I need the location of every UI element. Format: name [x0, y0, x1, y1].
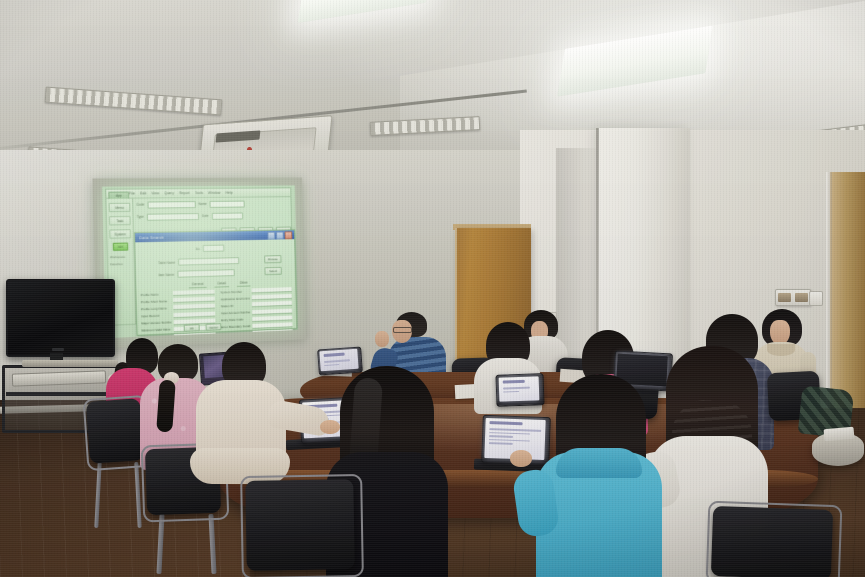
sidebar-item-system[interactable]: System: [109, 229, 131, 239]
dialog-window-controls[interactable]: [267, 231, 292, 239]
field-label: Minimum Valid Value: [141, 328, 171, 333]
dialog-field[interactable]: Status ID: [221, 301, 292, 309]
menu-item-report[interactable]: Report: [179, 191, 190, 195]
screen-text-line: [503, 387, 530, 389]
field-input[interactable]: [173, 290, 215, 296]
filter-input-name[interactable]: [210, 200, 245, 207]
dialog-title-bar[interactable]: Data Search: [135, 230, 294, 242]
dialog-table-name-input[interactable]: [178, 257, 239, 266]
student-laptop-screen[interactable]: [499, 376, 540, 401]
sidebar-item-menu[interactable]: Menu: [109, 203, 131, 212]
dialog-select-button[interactable]: Select: [264, 267, 281, 275]
wall-switch-plate-secondary[interactable]: [809, 291, 823, 306]
sidebar-item-task[interactable]: Task: [109, 216, 131, 226]
filter-label-type: Type: [137, 215, 144, 219]
sidebar-go-button[interactable]: GO: [113, 242, 129, 250]
close-icon[interactable]: [285, 231, 293, 239]
filter-label-name: Name: [198, 202, 207, 206]
projection-screen[interactable]: File Edit View Query Report Tools Window…: [102, 185, 298, 338]
field-label: Status ID: [221, 303, 250, 308]
dialog-cancel-button[interactable]: Cancel: [206, 323, 222, 331]
dialog-search-row[interactable]: Table Name: [158, 257, 239, 266]
minimize-icon[interactable]: [267, 231, 275, 239]
field-input[interactable]: [252, 294, 292, 300]
field-label: Application Environment: [221, 296, 250, 301]
dialog-field-grid[interactable]: Profile Name System Number Profile Short…: [141, 287, 293, 338]
menu-item-window[interactable]: Window: [208, 191, 221, 195]
person-cyan-hood: [556, 448, 642, 478]
dialog-top-field[interactable]: No.: [196, 245, 225, 253]
field-label: Major Version Number: [141, 320, 171, 325]
field-input[interactable]: [173, 311, 215, 318]
dialog-field[interactable]: Profile Short Name: [141, 297, 215, 305]
tv-stand-base: [22, 360, 118, 367]
screen-text-line: [489, 435, 513, 437]
dialog-tab-bar[interactable]: General Detail Other: [189, 281, 251, 289]
screen-title-bar: [503, 380, 525, 384]
dialog-browse-button[interactable]: Browse: [264, 255, 281, 263]
person-instructor-hand: [375, 331, 389, 347]
tab-detail[interactable]: Detail: [214, 281, 228, 287]
screen-text-line: [489, 439, 530, 442]
chair-frame: [706, 501, 843, 577]
field-label: Input Account Number: [221, 310, 250, 315]
screen-title-bar: [490, 421, 523, 425]
field-label: Entry Date Code: [221, 317, 250, 322]
screen-text-line: [503, 390, 519, 392]
person-standing-cream-neckline: [767, 344, 795, 356]
menu-item-view[interactable]: View: [151, 191, 159, 195]
field-input[interactable]: [173, 304, 215, 311]
field-label: Error Boundary Condition: [221, 324, 250, 329]
training-room-photo: File Edit View Query Report Tools Window…: [0, 0, 865, 577]
person-cream-peplum-hand: [320, 420, 340, 434]
projected-application-window[interactable]: File Edit View Query Report Tools Window…: [105, 187, 294, 325]
tab-other[interactable]: Other: [237, 281, 251, 287]
sidebar-sub-workspace[interactable]: Workspace: [110, 255, 132, 260]
field-label: Profile Long Name: [141, 306, 171, 311]
av-cart-shelf: [6, 392, 121, 396]
dialog-field[interactable]: System Number: [220, 287, 291, 294]
chair-frame: [240, 474, 364, 577]
field-label: Profile Name: [141, 292, 171, 297]
dialog-item-name-input[interactable]: [177, 269, 234, 278]
field-input[interactable]: [252, 301, 292, 307]
filter-row[interactable]: Type Date: [132, 209, 290, 223]
light-switch-key[interactable]: [778, 293, 791, 302]
menu-item-query[interactable]: Query: [164, 191, 174, 195]
wall-light-switch-panel[interactable]: [775, 289, 811, 306]
screen-title-bar: [324, 353, 345, 357]
dialog-ok-button[interactable]: OK: [184, 324, 200, 332]
menu-item-help[interactable]: Help: [225, 191, 232, 195]
field-label: System Number: [220, 289, 249, 294]
dialog-field[interactable]: Profile Name: [141, 290, 215, 297]
filter-input-date[interactable]: [211, 212, 242, 219]
field-input[interactable]: [251, 287, 291, 293]
projected-modal-dialog[interactable]: Data Search No. Table Name Browse: [134, 229, 297, 335]
field-input[interactable]: [252, 308, 292, 314]
dialog-title-text: Data Search: [137, 235, 164, 241]
dialog-field[interactable]: Application Environment: [221, 294, 292, 301]
dialog-top-field-label: No.: [196, 247, 201, 251]
screen-text-line: [489, 428, 541, 431]
student-laptop-screen[interactable]: [319, 349, 358, 372]
screen-text-line: [489, 442, 513, 444]
tab-general[interactable]: General: [189, 282, 207, 289]
dialog-top-field-input[interactable]: [203, 245, 225, 252]
flat-screen-television[interactable]: [6, 279, 115, 357]
sidebar-sub-favorites[interactable]: Favorites: [110, 262, 132, 267]
dialog-item-name-label: Item Name: [158, 272, 174, 276]
field-label: Profile Short Name: [141, 299, 171, 304]
maximize-icon[interactable]: [276, 231, 284, 239]
menu-item-tools[interactable]: Tools: [195, 191, 203, 195]
glasses-icon: [393, 327, 412, 333]
field-label: Input Record: [141, 313, 171, 318]
dialog-search-row[interactable]: Item Name: [158, 269, 234, 278]
field-input[interactable]: [252, 322, 292, 329]
filter-label-date: Date: [202, 214, 209, 218]
light-switch-key[interactable]: [795, 293, 808, 302]
field-input[interactable]: [173, 297, 215, 303]
filter-input-code[interactable]: [147, 201, 195, 209]
screen-text-line: [489, 432, 530, 435]
dialog-table-name-label: Table Name: [158, 260, 175, 264]
filter-input-type[interactable]: [147, 213, 199, 221]
filter-label-code: Code: [136, 203, 144, 207]
screen-text-line: [324, 359, 350, 362]
tv-brand-logo: [52, 348, 64, 351]
screen-text-line: [324, 363, 339, 366]
person-cyan-hoodie-hand: [510, 450, 532, 467]
field-input[interactable]: [252, 315, 292, 322]
menu-item-file[interactable]: File: [129, 191, 135, 195]
menu-item-edit[interactable]: Edit: [140, 191, 146, 195]
